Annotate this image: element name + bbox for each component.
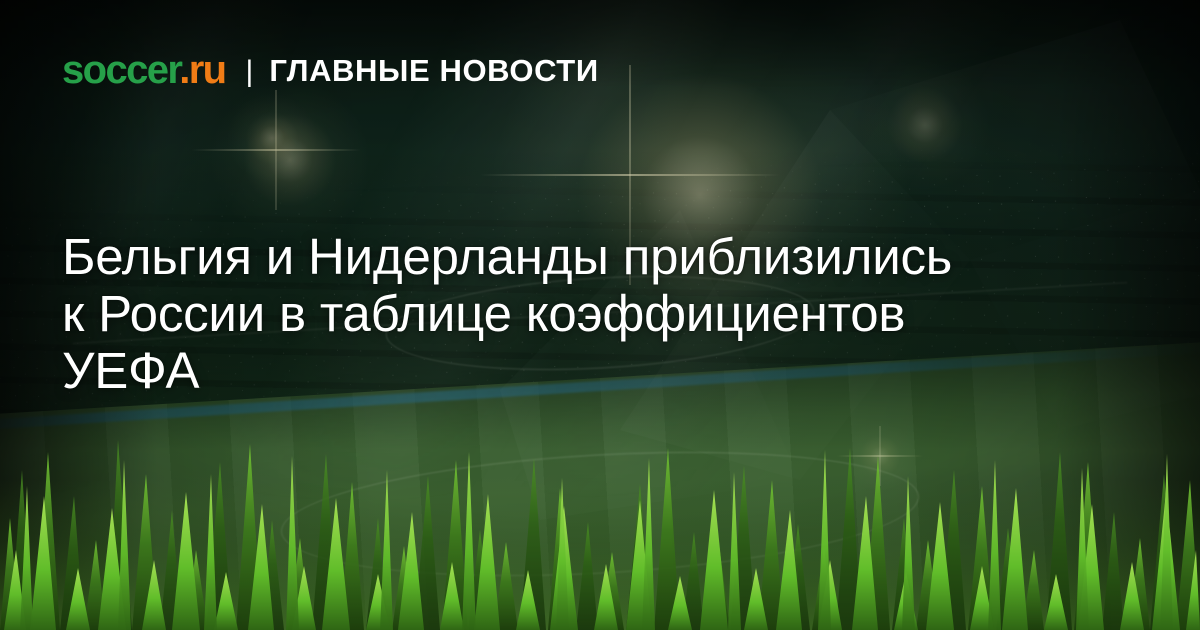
- site-logo[interactable]: soccer.ru: [62, 50, 226, 90]
- headline-line-2: к России в таблице коэффициентов: [62, 285, 905, 342]
- logo-text-soccer: soccer: [62, 48, 179, 92]
- header-section-label: ГЛАВНЫЕ НОВОСТИ: [269, 55, 598, 86]
- headline: Бельгия и Нидерланды приблизились к Росс…: [62, 228, 1172, 399]
- news-share-card: soccer.ru | ГЛАВНЫЕ НОВОСТИ Бельгия и Ни…: [0, 0, 1200, 630]
- logo-text-dot: .: [179, 48, 189, 92]
- header-separator: |: [246, 57, 254, 87]
- headline-line-1: Бельгия и Нидерланды приблизились: [62, 228, 952, 285]
- headline-line-3: УЕФА: [62, 342, 199, 399]
- site-header: soccer.ru | ГЛАВНЫЕ НОВОСТИ: [62, 50, 599, 90]
- logo-text-ru: ru: [189, 48, 226, 92]
